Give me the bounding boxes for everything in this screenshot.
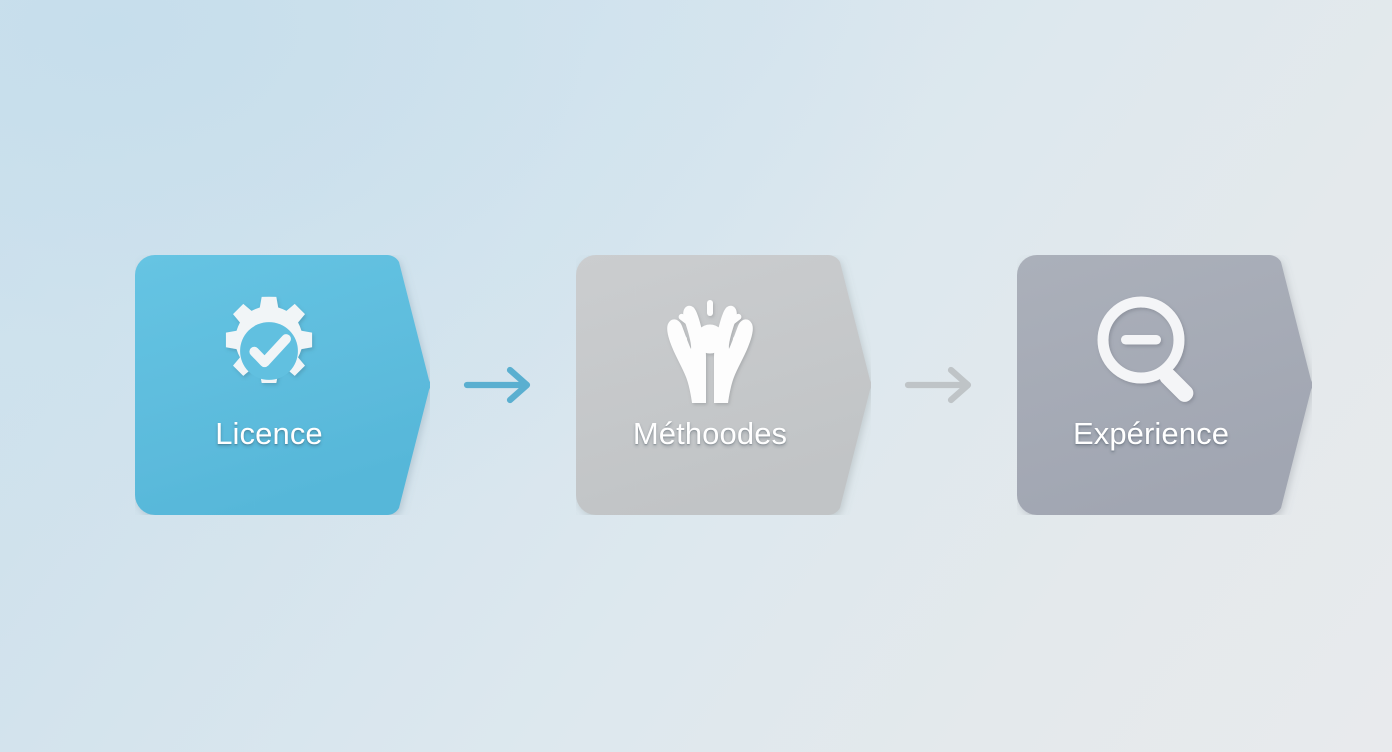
step-1-content: Licence bbox=[135, 255, 403, 515]
step-3-label: Expérience bbox=[1073, 417, 1229, 451]
gear-check-icon bbox=[209, 291, 329, 411]
process-step-3[interactable]: Expérience bbox=[1017, 255, 1312, 515]
arrow-right-icon bbox=[463, 365, 543, 405]
connector-2 bbox=[871, 355, 1017, 415]
diagram-canvas: Licence bbox=[0, 0, 1392, 752]
hands-sun-icon bbox=[650, 291, 770, 411]
connector-1 bbox=[430, 355, 576, 415]
process-step-2[interactable]: Méthoodes bbox=[576, 255, 871, 515]
magnifier-minus-icon bbox=[1091, 291, 1211, 411]
process-flow: Licence bbox=[135, 255, 1305, 515]
step-3-content: Expérience bbox=[1017, 255, 1285, 515]
step-2-label: Méthoodes bbox=[633, 417, 787, 451]
step-1-label: Licence bbox=[215, 417, 323, 451]
process-step-1[interactable]: Licence bbox=[135, 255, 430, 515]
arrow-right-icon bbox=[904, 365, 984, 405]
step-2-content: Méthoodes bbox=[576, 255, 844, 515]
